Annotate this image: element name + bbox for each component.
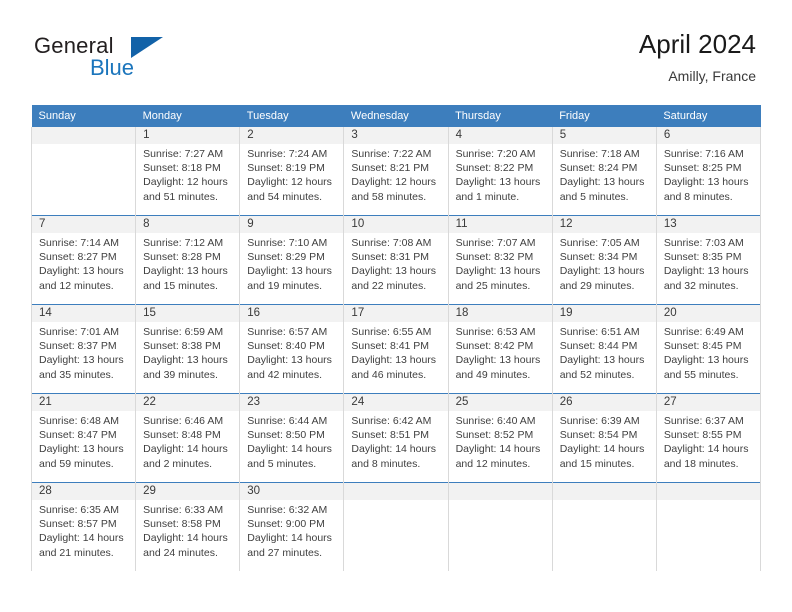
daylight-duration-line2: and 18 minutes. xyxy=(664,457,754,471)
calendar-day-cell[interactable]: 13Sunrise: 7:03 AMSunset: 8:35 PMDayligh… xyxy=(656,216,760,305)
day-details: Sunrise: 6:53 AMSunset: 8:42 PMDaylight:… xyxy=(449,322,552,382)
day-number xyxy=(32,127,135,144)
sunrise-time: Sunrise: 7:03 AM xyxy=(664,236,754,250)
day-number: 23 xyxy=(240,394,343,411)
sunset-time: Sunset: 8:52 PM xyxy=(456,428,546,442)
sunrise-time: Sunrise: 6:42 AM xyxy=(351,414,441,428)
daylight-duration-line2: and 58 minutes. xyxy=(351,190,441,204)
daylight-duration-line2: and 21 minutes. xyxy=(39,546,129,560)
daylight-duration-line1: Daylight: 13 hours xyxy=(351,264,441,278)
day-details: Sunrise: 6:44 AMSunset: 8:50 PMDaylight:… xyxy=(240,411,343,471)
daylight-duration-line2: and 35 minutes. xyxy=(39,368,129,382)
logo-text-blue: Blue xyxy=(90,55,134,81)
calendar-cell-empty xyxy=(656,483,760,572)
day-details: Sunrise: 7:07 AMSunset: 8:32 PMDaylight:… xyxy=(449,233,552,293)
daylight-duration-line1: Daylight: 13 hours xyxy=(351,353,441,367)
day-number: 6 xyxy=(657,127,760,144)
day-details: Sunrise: 7:22 AMSunset: 8:21 PMDaylight:… xyxy=(344,144,447,204)
sunset-time: Sunset: 9:00 PM xyxy=(247,517,337,531)
day-details: Sunrise: 6:51 AMSunset: 8:44 PMDaylight:… xyxy=(553,322,656,382)
day-details: Sunrise: 7:24 AMSunset: 8:19 PMDaylight:… xyxy=(240,144,343,204)
calendar-day-cell[interactable]: 6Sunrise: 7:16 AMSunset: 8:25 PMDaylight… xyxy=(656,127,760,216)
daylight-duration-line2: and 1 minute. xyxy=(456,190,546,204)
day-number: 7 xyxy=(32,216,135,233)
sunset-time: Sunset: 8:42 PM xyxy=(456,339,546,353)
daylight-duration-line2: and 51 minutes. xyxy=(143,190,233,204)
day-details: Sunrise: 6:57 AMSunset: 8:40 PMDaylight:… xyxy=(240,322,343,382)
sunrise-time: Sunrise: 6:35 AM xyxy=(39,503,129,517)
page-title: April 2024 xyxy=(639,28,756,60)
day-details xyxy=(344,500,447,563)
daylight-duration-line1: Daylight: 14 hours xyxy=(664,442,754,456)
daylight-duration-line1: Daylight: 13 hours xyxy=(560,264,650,278)
sunset-time: Sunset: 8:44 PM xyxy=(560,339,650,353)
sunset-time: Sunset: 8:32 PM xyxy=(456,250,546,264)
sunset-time: Sunset: 8:50 PM xyxy=(247,428,337,442)
calendar-day-cell[interactable]: 28Sunrise: 6:35 AMSunset: 8:57 PMDayligh… xyxy=(32,483,136,572)
daylight-duration-line2: and 32 minutes. xyxy=(664,279,754,293)
calendar-day-cell[interactable]: 3Sunrise: 7:22 AMSunset: 8:21 PMDaylight… xyxy=(344,127,448,216)
calendar-cell-empty xyxy=(448,483,552,572)
day-number xyxy=(344,483,447,500)
calendar-day-cell[interactable]: 22Sunrise: 6:46 AMSunset: 8:48 PMDayligh… xyxy=(136,394,240,483)
calendar-body: 1Sunrise: 7:27 AMSunset: 8:18 PMDaylight… xyxy=(32,127,761,571)
sunrise-time: Sunrise: 7:20 AM xyxy=(456,147,546,161)
sunrise-time: Sunrise: 7:07 AM xyxy=(456,236,546,250)
sunrise-time: Sunrise: 7:10 AM xyxy=(247,236,337,250)
sunset-time: Sunset: 8:34 PM xyxy=(560,250,650,264)
daylight-duration-line2: and 29 minutes. xyxy=(560,279,650,293)
day-details: Sunrise: 7:18 AMSunset: 8:24 PMDaylight:… xyxy=(553,144,656,204)
day-details xyxy=(553,500,656,563)
calendar-day-cell[interactable]: 2Sunrise: 7:24 AMSunset: 8:19 PMDaylight… xyxy=(240,127,344,216)
day-details: Sunrise: 6:42 AMSunset: 8:51 PMDaylight:… xyxy=(344,411,447,471)
calendar-week-row: 1Sunrise: 7:27 AMSunset: 8:18 PMDaylight… xyxy=(32,127,761,216)
daylight-duration-line1: Daylight: 12 hours xyxy=(351,175,441,189)
daylight-duration-line1: Daylight: 13 hours xyxy=(456,353,546,367)
page-header: General Blue April 2024 Amilly, France xyxy=(0,0,792,104)
title-block: April 2024 Amilly, France xyxy=(639,28,756,86)
daylight-duration-line1: Daylight: 14 hours xyxy=(143,442,233,456)
sunrise-time: Sunrise: 6:49 AM xyxy=(664,325,754,339)
calendar-day-cell[interactable]: 27Sunrise: 6:37 AMSunset: 8:55 PMDayligh… xyxy=(656,394,760,483)
day-number: 18 xyxy=(449,305,552,322)
day-details xyxy=(449,500,552,563)
calendar-day-cell[interactable]: 20Sunrise: 6:49 AMSunset: 8:45 PMDayligh… xyxy=(656,305,760,394)
sunrise-time: Sunrise: 6:59 AM xyxy=(143,325,233,339)
day-number: 15 xyxy=(136,305,239,322)
daylight-duration-line2: and 12 minutes. xyxy=(456,457,546,471)
daylight-duration-line2: and 24 minutes. xyxy=(143,546,233,560)
day-details: Sunrise: 6:55 AMSunset: 8:41 PMDaylight:… xyxy=(344,322,447,382)
daylight-duration-line1: Daylight: 13 hours xyxy=(664,264,754,278)
daylight-duration-line2: and 27 minutes. xyxy=(247,546,337,560)
sunrise-time: Sunrise: 6:55 AM xyxy=(351,325,441,339)
sunset-time: Sunset: 8:31 PM xyxy=(351,250,441,264)
day-details: Sunrise: 6:35 AMSunset: 8:57 PMDaylight:… xyxy=(32,500,135,560)
day-details: Sunrise: 6:40 AMSunset: 8:52 PMDaylight:… xyxy=(449,411,552,471)
day-details: Sunrise: 7:20 AMSunset: 8:22 PMDaylight:… xyxy=(449,144,552,204)
sunrise-time: Sunrise: 6:39 AM xyxy=(560,414,650,428)
calendar-day-cell[interactable]: 17Sunrise: 6:55 AMSunset: 8:41 PMDayligh… xyxy=(344,305,448,394)
daylight-duration-line2: and 8 minutes. xyxy=(351,457,441,471)
daylight-duration-line1: Daylight: 13 hours xyxy=(456,264,546,278)
daylight-duration-line1: Daylight: 14 hours xyxy=(39,531,129,545)
daylight-duration-line2: and 42 minutes. xyxy=(247,368,337,382)
location-subtitle: Amilly, France xyxy=(639,66,756,86)
weekday-header-thursday: Thursday xyxy=(448,105,552,127)
day-details: Sunrise: 7:03 AMSunset: 8:35 PMDaylight:… xyxy=(657,233,760,293)
day-details: Sunrise: 6:59 AMSunset: 8:38 PMDaylight:… xyxy=(136,322,239,382)
sunset-time: Sunset: 8:58 PM xyxy=(143,517,233,531)
daylight-duration-line1: Daylight: 14 hours xyxy=(560,442,650,456)
sunset-time: Sunset: 8:25 PM xyxy=(664,161,754,175)
daylight-duration-line2: and 54 minutes. xyxy=(247,190,337,204)
calendar-day-cell[interactable]: 23Sunrise: 6:44 AMSunset: 8:50 PMDayligh… xyxy=(240,394,344,483)
calendar-day-cell[interactable]: 21Sunrise: 6:48 AMSunset: 8:47 PMDayligh… xyxy=(32,394,136,483)
day-details: Sunrise: 7:12 AMSunset: 8:28 PMDaylight:… xyxy=(136,233,239,293)
daylight-duration-line2: and 46 minutes. xyxy=(351,368,441,382)
day-details: Sunrise: 7:14 AMSunset: 8:27 PMDaylight:… xyxy=(32,233,135,293)
daylight-duration-line2: and 15 minutes. xyxy=(560,457,650,471)
day-details: Sunrise: 7:08 AMSunset: 8:31 PMDaylight:… xyxy=(344,233,447,293)
day-number: 8 xyxy=(136,216,239,233)
daylight-duration-line1: Daylight: 13 hours xyxy=(456,175,546,189)
day-details: Sunrise: 6:46 AMSunset: 8:48 PMDaylight:… xyxy=(136,411,239,471)
daylight-duration-line1: Daylight: 13 hours xyxy=(39,353,129,367)
day-details xyxy=(32,144,135,207)
daylight-duration-line2: and 25 minutes. xyxy=(456,279,546,293)
sunrise-time: Sunrise: 7:27 AM xyxy=(143,147,233,161)
day-number: 28 xyxy=(32,483,135,500)
daylight-duration-line1: Daylight: 14 hours xyxy=(143,531,233,545)
calendar-day-cell[interactable]: 14Sunrise: 7:01 AMSunset: 8:37 PMDayligh… xyxy=(32,305,136,394)
day-number xyxy=(553,483,656,500)
day-number: 2 xyxy=(240,127,343,144)
sunrise-time: Sunrise: 6:48 AM xyxy=(39,414,129,428)
daylight-duration-line2: and 59 minutes. xyxy=(39,457,129,471)
sunset-time: Sunset: 8:51 PM xyxy=(351,428,441,442)
sunrise-time: Sunrise: 6:53 AM xyxy=(456,325,546,339)
daylight-duration-line2: and 2 minutes. xyxy=(143,457,233,471)
blue-triangle-flag-icon xyxy=(131,37,163,58)
sunset-time: Sunset: 8:19 PM xyxy=(247,161,337,175)
sunset-time: Sunset: 8:24 PM xyxy=(560,161,650,175)
weekday-header-tuesday: Tuesday xyxy=(240,105,344,127)
sunrise-sunset-calendar: Sunday Monday Tuesday Wednesday Thursday… xyxy=(31,105,761,571)
daylight-duration-line1: Daylight: 14 hours xyxy=(247,531,337,545)
sunrise-time: Sunrise: 6:40 AM xyxy=(456,414,546,428)
day-number: 14 xyxy=(32,305,135,322)
calendar-day-cell[interactable]: 10Sunrise: 7:08 AMSunset: 8:31 PMDayligh… xyxy=(344,216,448,305)
calendar-day-cell[interactable]: 18Sunrise: 6:53 AMSunset: 8:42 PMDayligh… xyxy=(448,305,552,394)
calendar-day-cell[interactable]: 15Sunrise: 6:59 AMSunset: 8:38 PMDayligh… xyxy=(136,305,240,394)
day-number: 5 xyxy=(553,127,656,144)
sunset-time: Sunset: 8:28 PM xyxy=(143,250,233,264)
day-number: 17 xyxy=(344,305,447,322)
daylight-duration-line1: Daylight: 13 hours xyxy=(39,442,129,456)
calendar-header-row: Sunday Monday Tuesday Wednesday Thursday… xyxy=(32,105,761,127)
daylight-duration-line1: Daylight: 12 hours xyxy=(143,175,233,189)
sunrise-time: Sunrise: 7:01 AM xyxy=(39,325,129,339)
day-details: Sunrise: 6:32 AMSunset: 9:00 PMDaylight:… xyxy=(240,500,343,560)
day-number: 19 xyxy=(553,305,656,322)
day-number: 10 xyxy=(344,216,447,233)
daylight-duration-line1: Daylight: 13 hours xyxy=(39,264,129,278)
day-number: 22 xyxy=(136,394,239,411)
day-number: 13 xyxy=(657,216,760,233)
daylight-duration-line1: Daylight: 13 hours xyxy=(560,353,650,367)
weekday-header-monday: Monday xyxy=(136,105,240,127)
day-number: 9 xyxy=(240,216,343,233)
sunrise-time: Sunrise: 7:22 AM xyxy=(351,147,441,161)
day-number: 3 xyxy=(344,127,447,144)
calendar-week-row: 14Sunrise: 7:01 AMSunset: 8:37 PMDayligh… xyxy=(32,305,761,394)
sunrise-time: Sunrise: 7:14 AM xyxy=(39,236,129,250)
day-details: Sunrise: 7:27 AMSunset: 8:18 PMDaylight:… xyxy=(136,144,239,204)
calendar-day-cell[interactable]: 25Sunrise: 6:40 AMSunset: 8:52 PMDayligh… xyxy=(448,394,552,483)
daylight-duration-line2: and 52 minutes. xyxy=(560,368,650,382)
calendar-day-cell[interactable]: 19Sunrise: 6:51 AMSunset: 8:44 PMDayligh… xyxy=(552,305,656,394)
calendar-day-cell[interactable]: 5Sunrise: 7:18 AMSunset: 8:24 PMDaylight… xyxy=(552,127,656,216)
daylight-duration-line1: Daylight: 13 hours xyxy=(664,175,754,189)
sunset-time: Sunset: 8:41 PM xyxy=(351,339,441,353)
day-details: Sunrise: 7:01 AMSunset: 8:37 PMDaylight:… xyxy=(32,322,135,382)
sunrise-time: Sunrise: 7:18 AM xyxy=(560,147,650,161)
calendar-page: General Blue April 2024 Amilly, France S… xyxy=(0,0,792,612)
calendar-week-row: 28Sunrise: 6:35 AMSunset: 8:57 PMDayligh… xyxy=(32,483,761,572)
sunrise-time: Sunrise: 6:32 AM xyxy=(247,503,337,517)
calendar-day-cell[interactable]: 11Sunrise: 7:07 AMSunset: 8:32 PMDayligh… xyxy=(448,216,552,305)
calendar-cell-empty xyxy=(32,127,136,216)
daylight-duration-line1: Daylight: 13 hours xyxy=(247,353,337,367)
sunrise-time: Sunrise: 6:33 AM xyxy=(143,503,233,517)
sunset-time: Sunset: 8:21 PM xyxy=(351,161,441,175)
sunset-time: Sunset: 8:38 PM xyxy=(143,339,233,353)
weekday-header-sunday: Sunday xyxy=(32,105,136,127)
calendar-day-cell[interactable]: 8Sunrise: 7:12 AMSunset: 8:28 PMDaylight… xyxy=(136,216,240,305)
calendar-day-cell[interactable]: 16Sunrise: 6:57 AMSunset: 8:40 PMDayligh… xyxy=(240,305,344,394)
day-details: Sunrise: 7:10 AMSunset: 8:29 PMDaylight:… xyxy=(240,233,343,293)
daylight-duration-line2: and 55 minutes. xyxy=(664,368,754,382)
daylight-duration-line2: and 39 minutes. xyxy=(143,368,233,382)
calendar-cell-empty xyxy=(344,483,448,572)
day-details: Sunrise: 6:33 AMSunset: 8:58 PMDaylight:… xyxy=(136,500,239,560)
daylight-duration-line1: Daylight: 13 hours xyxy=(143,353,233,367)
day-number: 30 xyxy=(240,483,343,500)
sunrise-time: Sunrise: 6:46 AM xyxy=(143,414,233,428)
daylight-duration-line1: Daylight: 12 hours xyxy=(247,175,337,189)
sunrise-time: Sunrise: 7:12 AM xyxy=(143,236,233,250)
daylight-duration-line2: and 12 minutes. xyxy=(39,279,129,293)
day-number: 29 xyxy=(136,483,239,500)
sunset-time: Sunset: 8:47 PM xyxy=(39,428,129,442)
calendar-day-cell[interactable]: 30Sunrise: 6:32 AMSunset: 9:00 PMDayligh… xyxy=(240,483,344,572)
calendar-day-cell[interactable]: 9Sunrise: 7:10 AMSunset: 8:29 PMDaylight… xyxy=(240,216,344,305)
day-details: Sunrise: 7:16 AMSunset: 8:25 PMDaylight:… xyxy=(657,144,760,204)
daylight-duration-line1: Daylight: 13 hours xyxy=(143,264,233,278)
calendar-day-cell[interactable]: 1Sunrise: 7:27 AMSunset: 8:18 PMDaylight… xyxy=(136,127,240,216)
calendar-day-cell[interactable]: 12Sunrise: 7:05 AMSunset: 8:34 PMDayligh… xyxy=(552,216,656,305)
daylight-duration-line1: Daylight: 14 hours xyxy=(351,442,441,456)
day-number: 25 xyxy=(449,394,552,411)
day-details: Sunrise: 6:49 AMSunset: 8:45 PMDaylight:… xyxy=(657,322,760,382)
day-number: 20 xyxy=(657,305,760,322)
daylight-duration-line2: and 15 minutes. xyxy=(143,279,233,293)
day-number: 1 xyxy=(136,127,239,144)
day-details: Sunrise: 6:39 AMSunset: 8:54 PMDaylight:… xyxy=(553,411,656,471)
day-number: 4 xyxy=(449,127,552,144)
calendar-day-cell[interactable]: 29Sunrise: 6:33 AMSunset: 8:58 PMDayligh… xyxy=(136,483,240,572)
day-number: 11 xyxy=(449,216,552,233)
sunset-time: Sunset: 8:54 PM xyxy=(560,428,650,442)
sunset-time: Sunset: 8:35 PM xyxy=(664,250,754,264)
day-details xyxy=(657,500,760,563)
daylight-duration-line2: and 5 minutes. xyxy=(247,457,337,471)
daylight-duration-line1: Daylight: 13 hours xyxy=(560,175,650,189)
sunset-time: Sunset: 8:22 PM xyxy=(456,161,546,175)
day-details: Sunrise: 7:05 AMSunset: 8:34 PMDaylight:… xyxy=(553,233,656,293)
day-number: 27 xyxy=(657,394,760,411)
day-number: 12 xyxy=(553,216,656,233)
weekday-header-wednesday: Wednesday xyxy=(344,105,448,127)
calendar-week-row: 21Sunrise: 6:48 AMSunset: 8:47 PMDayligh… xyxy=(32,394,761,483)
sunset-time: Sunset: 8:45 PM xyxy=(664,339,754,353)
daylight-duration-line2: and 8 minutes. xyxy=(664,190,754,204)
sunset-time: Sunset: 8:48 PM xyxy=(143,428,233,442)
calendar-day-cell[interactable]: 26Sunrise: 6:39 AMSunset: 8:54 PMDayligh… xyxy=(552,394,656,483)
sunset-time: Sunset: 8:55 PM xyxy=(664,428,754,442)
sunrise-time: Sunrise: 6:51 AM xyxy=(560,325,650,339)
calendar-week-row: 7Sunrise: 7:14 AMSunset: 8:27 PMDaylight… xyxy=(32,216,761,305)
daylight-duration-line1: Daylight: 14 hours xyxy=(247,442,337,456)
daylight-duration-line2: and 19 minutes. xyxy=(247,279,337,293)
calendar-day-cell[interactable]: 24Sunrise: 6:42 AMSunset: 8:51 PMDayligh… xyxy=(344,394,448,483)
sunset-time: Sunset: 8:29 PM xyxy=(247,250,337,264)
sunset-time: Sunset: 8:18 PM xyxy=(143,161,233,175)
weekday-header-saturday: Saturday xyxy=(656,105,760,127)
daylight-duration-line2: and 22 minutes. xyxy=(351,279,441,293)
day-number: 16 xyxy=(240,305,343,322)
day-number xyxy=(657,483,760,500)
sunrise-time: Sunrise: 7:05 AM xyxy=(560,236,650,250)
sunrise-time: Sunrise: 7:16 AM xyxy=(664,147,754,161)
day-number xyxy=(449,483,552,500)
daylight-duration-line1: Daylight: 13 hours xyxy=(664,353,754,367)
daylight-duration-line1: Daylight: 13 hours xyxy=(247,264,337,278)
day-details: Sunrise: 6:48 AMSunset: 8:47 PMDaylight:… xyxy=(32,411,135,471)
calendar-day-cell[interactable]: 4Sunrise: 7:20 AMSunset: 8:22 PMDaylight… xyxy=(448,127,552,216)
daylight-duration-line2: and 49 minutes. xyxy=(456,368,546,382)
general-blue-logo[interactable]: General Blue xyxy=(34,33,234,83)
sunset-time: Sunset: 8:57 PM xyxy=(39,517,129,531)
weekday-header-friday: Friday xyxy=(552,105,656,127)
sunrise-time: Sunrise: 6:57 AM xyxy=(247,325,337,339)
day-details: Sunrise: 6:37 AMSunset: 8:55 PMDaylight:… xyxy=(657,411,760,471)
day-number: 26 xyxy=(553,394,656,411)
sunset-time: Sunset: 8:40 PM xyxy=(247,339,337,353)
sunrise-time: Sunrise: 6:37 AM xyxy=(664,414,754,428)
sunset-time: Sunset: 8:37 PM xyxy=(39,339,129,353)
sunrise-time: Sunrise: 7:24 AM xyxy=(247,147,337,161)
day-number: 21 xyxy=(32,394,135,411)
daylight-duration-line2: and 5 minutes. xyxy=(560,190,650,204)
sunrise-time: Sunrise: 7:08 AM xyxy=(351,236,441,250)
day-number: 24 xyxy=(344,394,447,411)
calendar-day-cell[interactable]: 7Sunrise: 7:14 AMSunset: 8:27 PMDaylight… xyxy=(32,216,136,305)
sunrise-time: Sunrise: 6:44 AM xyxy=(247,414,337,428)
daylight-duration-line1: Daylight: 14 hours xyxy=(456,442,546,456)
sunset-time: Sunset: 8:27 PM xyxy=(39,250,129,264)
calendar-cell-empty xyxy=(552,483,656,572)
